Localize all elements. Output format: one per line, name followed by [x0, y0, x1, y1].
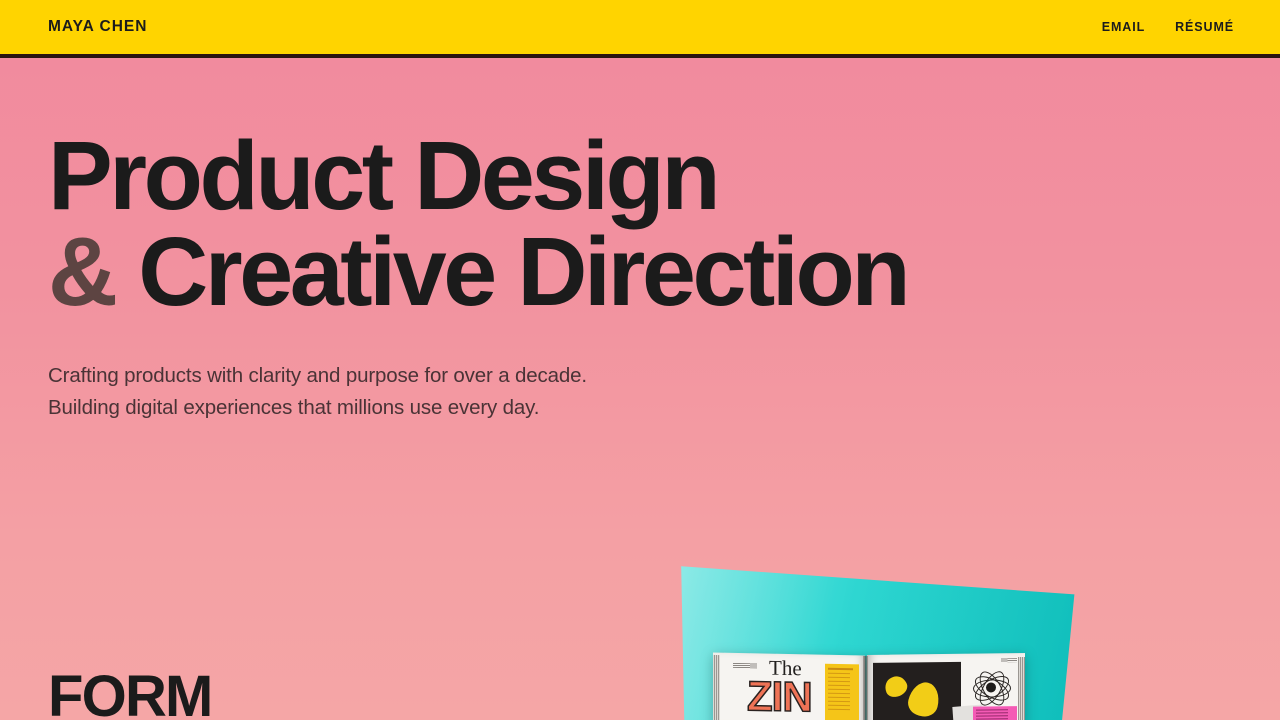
hero-section: Product Design & Creative Direction Craf… — [48, 128, 1048, 424]
sidebar-text-rule — [828, 701, 850, 702]
sidebar-text-rule — [828, 697, 850, 698]
magazine-photo: The ZIN — [713, 654, 1025, 720]
yellow-droplet-icon — [905, 679, 942, 719]
page-root: MAYA CHEN EMAIL RÉSUMÉ Product Design & … — [0, 0, 1280, 720]
headline-line-2: Creative Direction — [115, 217, 908, 326]
magazine-pink-sticky-note — [973, 706, 1017, 720]
sticky-text-rule — [976, 712, 1008, 713]
magazine-yellow-sidebar — [825, 664, 859, 720]
sticky-text-rule — [976, 718, 1008, 719]
site-header: MAYA CHEN EMAIL RÉSUMÉ — [0, 0, 1280, 58]
primary-nav: EMAIL RÉSUMÉ — [1102, 21, 1234, 34]
magazine-right-page — [867, 653, 1025, 720]
section-heading-form: FORM — [48, 668, 212, 720]
magazine-left-page-edges — [713, 655, 720, 720]
atom-nucleus — [986, 682, 996, 692]
sidebar-text-rule — [828, 693, 850, 694]
magazine-title-zin: ZIN — [747, 675, 812, 718]
sidebar-text-rule — [828, 685, 850, 686]
sidebar-text-rule — [828, 709, 850, 710]
headline-ampersand: & — [48, 217, 115, 326]
brand-logo[interactable]: MAYA CHEN — [48, 19, 147, 35]
sidebar-text-rule — [828, 673, 850, 674]
page-title: Product Design & Creative Direction — [48, 128, 1048, 320]
sticky-text-rule — [976, 715, 1008, 716]
nav-link-resume[interactable]: RÉSUMÉ — [1175, 21, 1234, 34]
magazine-left-page: The ZIN — [713, 653, 865, 720]
magazine-spine — [863, 656, 868, 720]
hero-subtitle: Crafting products with clarity and purpo… — [48, 320, 1048, 424]
atom-diagram-icon — [971, 667, 1011, 707]
headline-line-1: Product Design — [48, 121, 717, 230]
sticky-text-rule — [976, 709, 1008, 710]
magazine-kicker-lines — [733, 663, 757, 668]
sidebar-text-rule — [828, 677, 850, 678]
magazine-right-page-edges — [1018, 657, 1025, 720]
sidebar-text-rule — [828, 681, 850, 682]
sidebar-text-rule — [828, 705, 850, 706]
sidebar-headline-rule — [828, 668, 853, 670]
magazine-folio-lines — [1001, 658, 1017, 662]
hero-subtitle-line-2: Building digital experiences that millio… — [48, 396, 539, 419]
sidebar-text-rule — [828, 689, 850, 690]
nav-link-email[interactable]: EMAIL — [1102, 21, 1145, 34]
showcase-card[interactable]: The ZIN — [678, 562, 1076, 720]
hero-subtitle-line-1: Crafting products with clarity and purpo… — [48, 364, 587, 387]
yellow-droplet-icon — [882, 673, 910, 700]
magazine-dark-panel — [873, 662, 961, 720]
